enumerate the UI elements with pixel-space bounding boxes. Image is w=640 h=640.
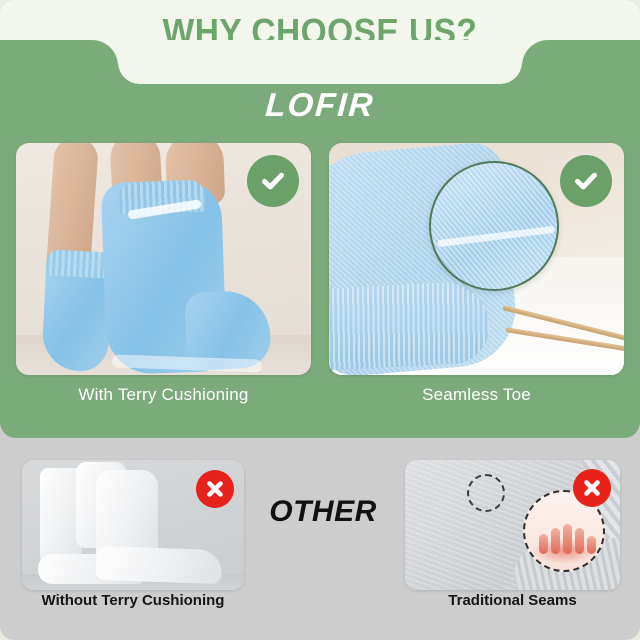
header-notch [118, 40, 522, 84]
other-label: OTHER [248, 495, 398, 529]
product-image-seamless-toe [329, 143, 624, 375]
seam-highlight-circle [467, 474, 505, 512]
product-image-terry-cushioning [16, 143, 311, 375]
infographic-canvas: WHY CHOOSE US? LOFIR With Terry Cushioni… [0, 0, 640, 640]
magnifier-circle [429, 161, 559, 291]
caption-with-terry-cushioning: With Terry Cushioning [16, 385, 311, 405]
caption-without-terry-cushioning: Without Terry Cushioning [22, 592, 244, 609]
toe [587, 536, 596, 554]
blue-sock-cuff [329, 280, 491, 372]
toe [539, 534, 548, 554]
white-sock-foot [95, 546, 222, 584]
other-image-without-cushioning [22, 460, 244, 590]
toe [563, 524, 572, 554]
brand-logo: LOFIR [0, 86, 640, 124]
check-badge [560, 155, 612, 207]
x-badge [573, 469, 611, 507]
toe [575, 528, 584, 554]
caption-seamless-toe: Seamless Toe [329, 385, 624, 405]
x-badge [196, 470, 234, 508]
check-badge [247, 155, 299, 207]
toe [551, 528, 560, 554]
caption-traditional-seams: Traditional Seams [405, 592, 620, 609]
other-image-traditional-seams [405, 460, 620, 590]
blue-sock [41, 249, 113, 372]
